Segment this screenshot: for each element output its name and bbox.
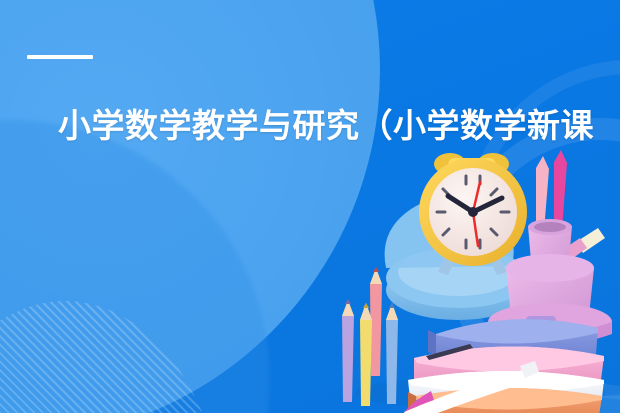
- study-supplies-illustration: [330, 150, 620, 413]
- title-underline-rule: [27, 55, 93, 59]
- cover-banner: 小学数学教学与研究（小学数学新课: [0, 0, 620, 413]
- page-title: 小学数学教学与研究（小学数学新课: [58, 105, 620, 148]
